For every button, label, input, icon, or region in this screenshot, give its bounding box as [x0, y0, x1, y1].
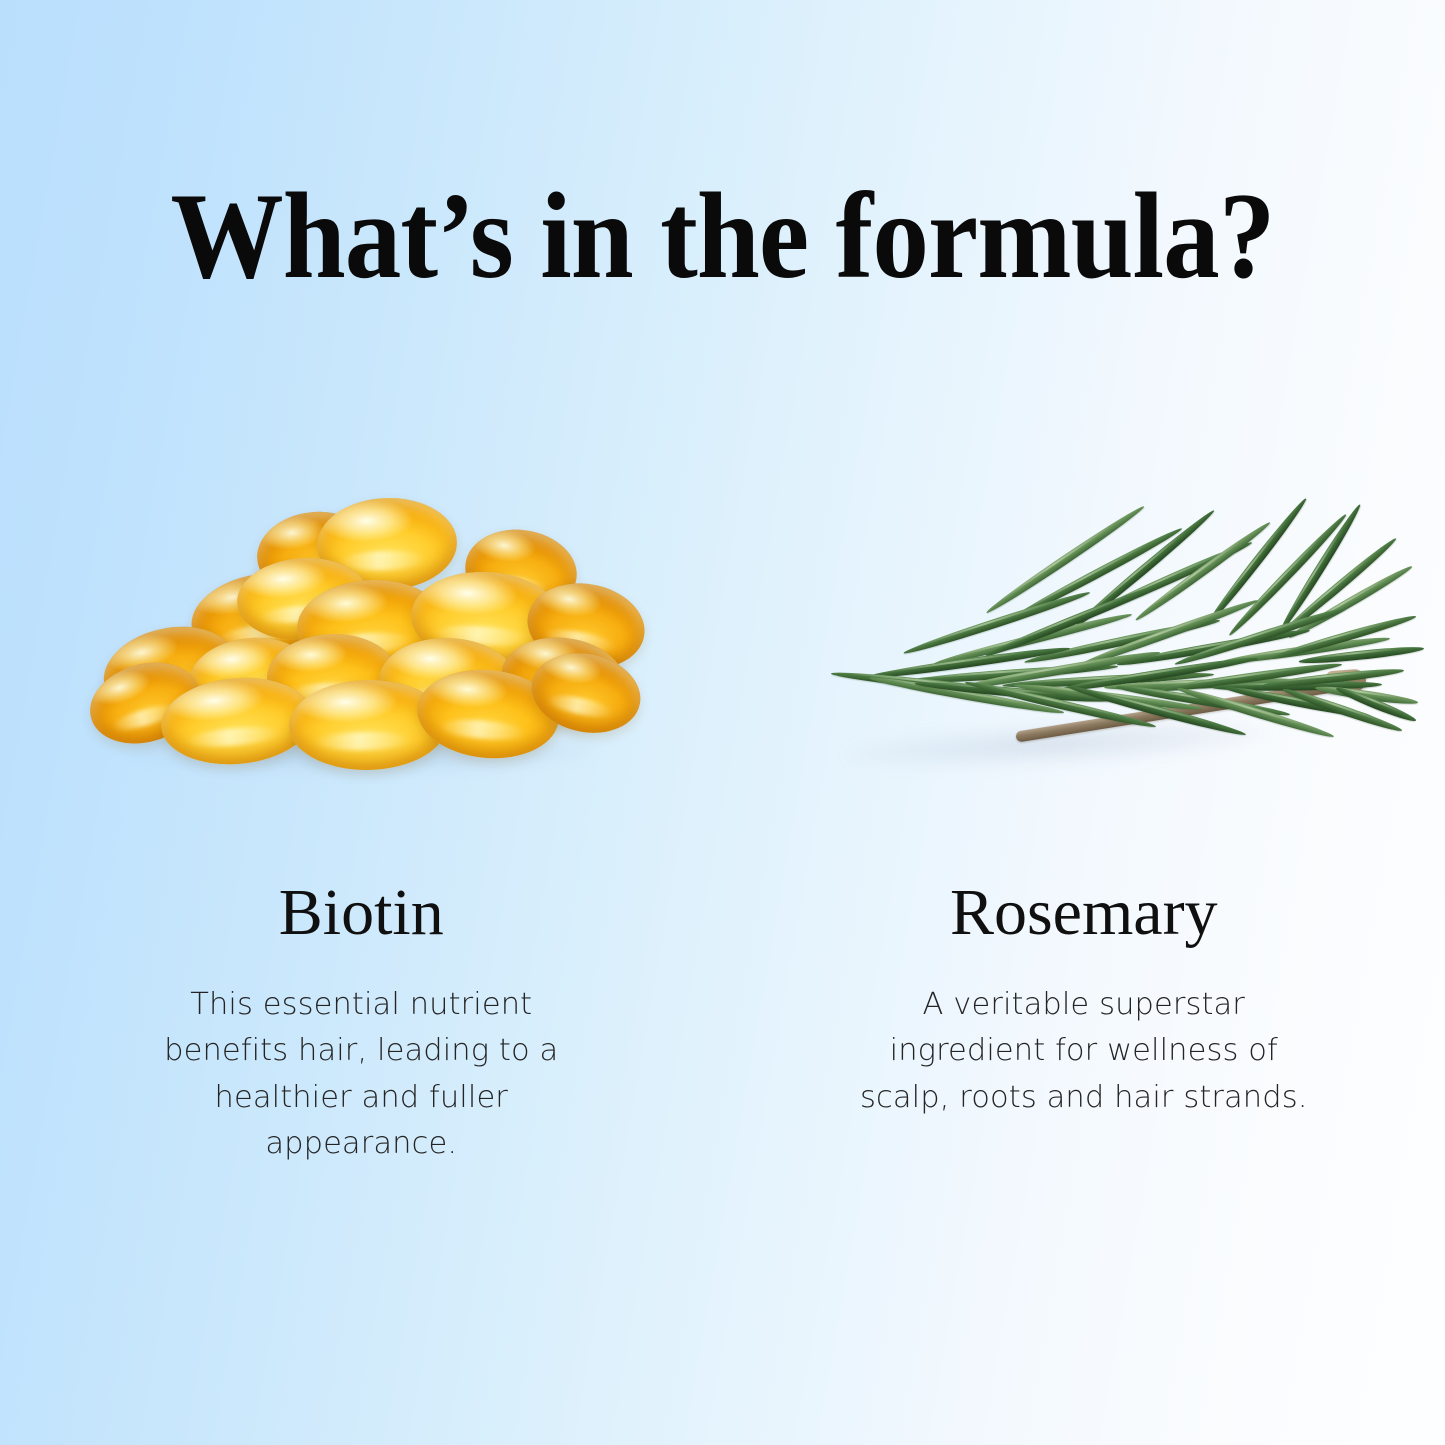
ingredient-card-rosemary: Rosemary A veritable superstar ingredien… — [723, 470, 1445, 1190]
rosemary-sprig-photo — [723, 470, 1445, 870]
capsule-pile — [61, 488, 661, 778]
ingredient-description-rosemary: A veritable superstar ingredient for wel… — [859, 982, 1309, 1121]
ingredient-description-biotin: This essential nutrient benefits hair, l… — [146, 982, 576, 1167]
page-title: What’s in the formula? — [58, 174, 1387, 297]
rosemary-sprig — [774, 484, 1394, 784]
ingredient-columns: Biotin This essential nutrient benefits … — [0, 470, 1445, 1190]
biotin-capsules-photo — [0, 470, 723, 870]
ingredient-card-biotin: Biotin This essential nutrient benefits … — [0, 470, 723, 1190]
ingredients-infographic: What’s in the formula? — [0, 0, 1445, 1445]
ingredient-name-biotin: Biotin — [279, 880, 444, 946]
ingredient-name-rosemary: Rosemary — [950, 880, 1218, 946]
